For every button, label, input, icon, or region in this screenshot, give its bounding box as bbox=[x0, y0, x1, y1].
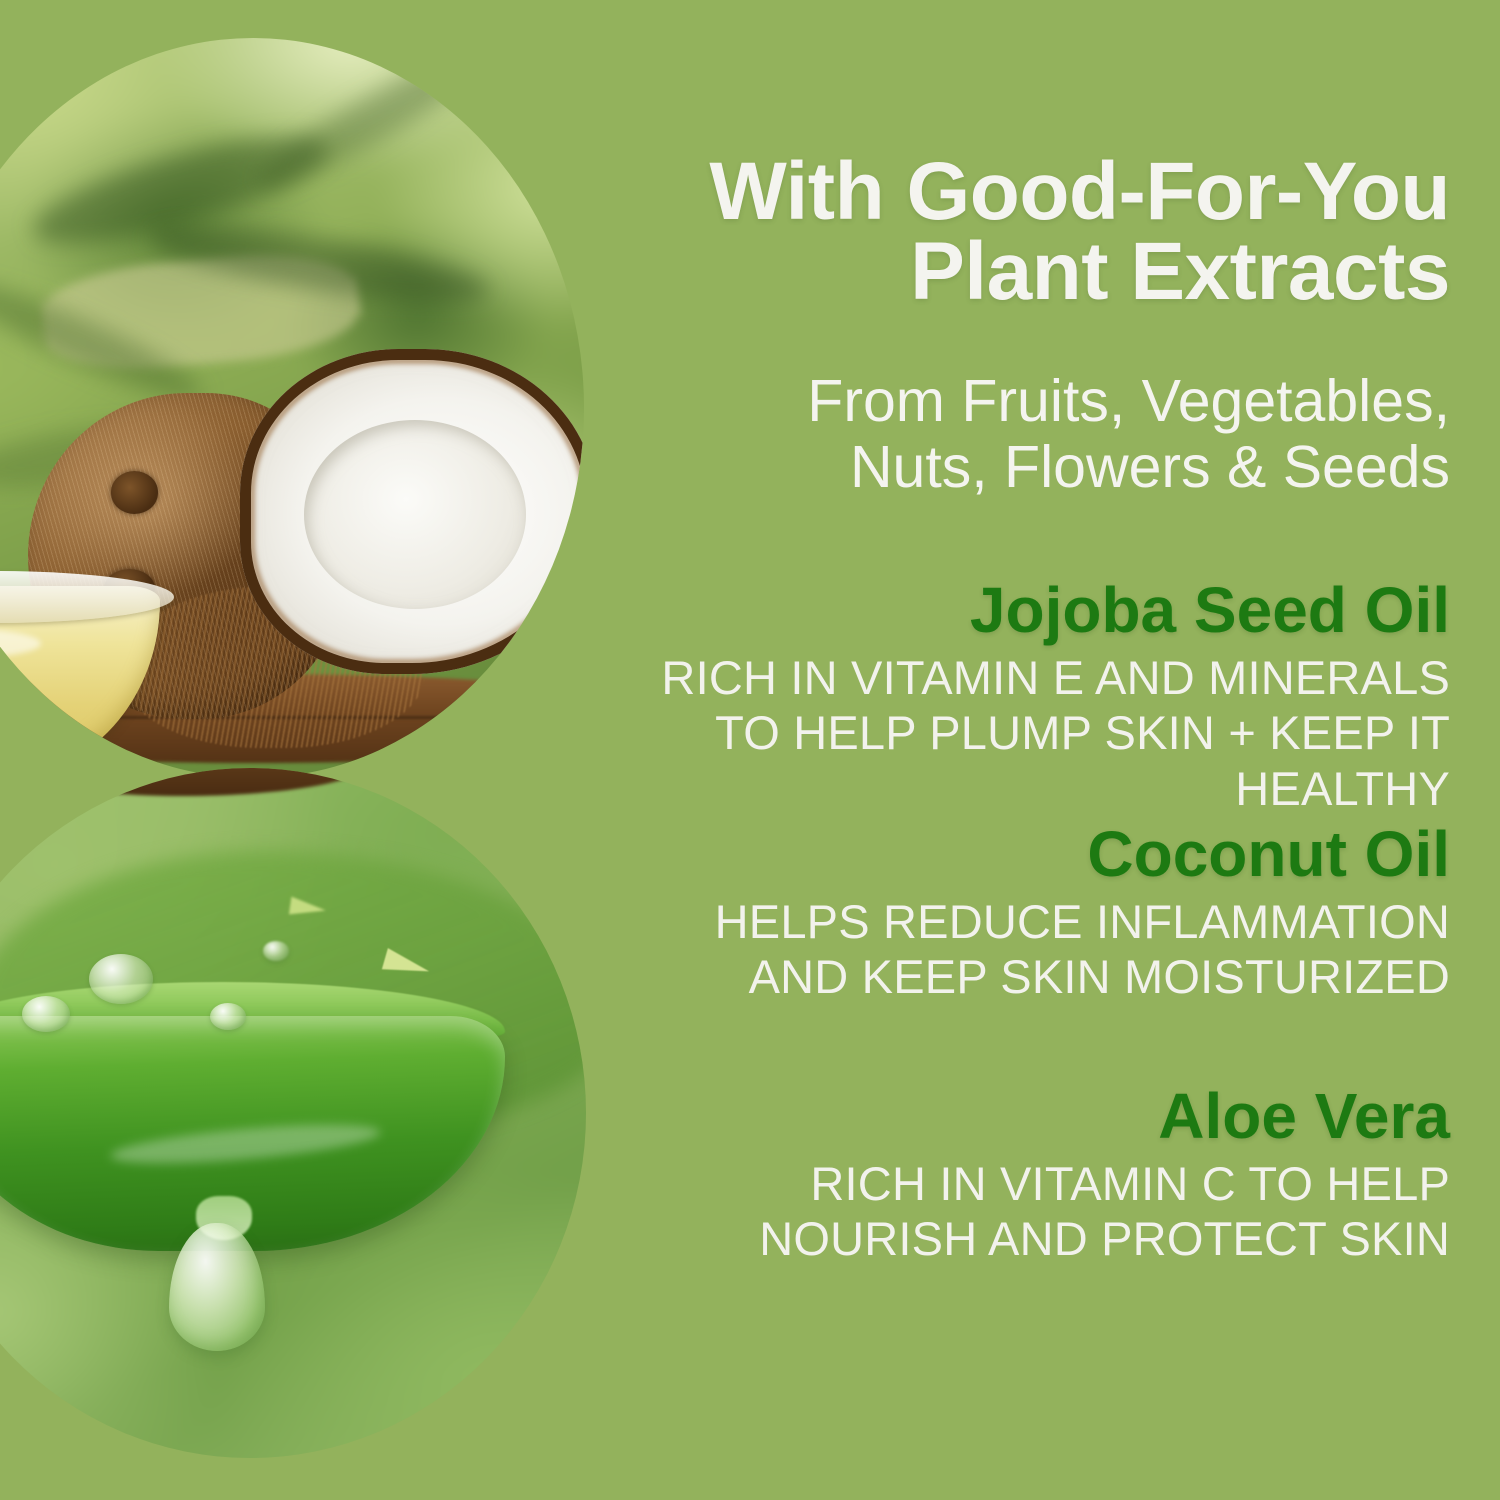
ingredient-name: Jojoba Seed Oil bbox=[600, 578, 1450, 642]
coconut-dark-rind bbox=[240, 349, 584, 675]
water-droplet bbox=[210, 1003, 246, 1030]
ingredient-benefits-infographic: With Good-For-You Plant Extracts From Fr… bbox=[0, 0, 1500, 1500]
aloe-slab-highlight bbox=[109, 1117, 382, 1171]
ingredient-description: HELPS REDUCE INFLAMMATION AND KEEP SKIN … bbox=[600, 894, 1450, 1005]
aloe-vera-photo-circle bbox=[0, 768, 586, 1458]
ingredient-description-line-2: AND KEEP SKIN MOISTURIZED bbox=[600, 949, 1450, 1004]
page-title-line-1: With Good-For-You bbox=[709, 146, 1450, 237]
coconut-white-flesh-half bbox=[240, 349, 584, 675]
page-title-line-2: Plant Extracts bbox=[910, 226, 1450, 317]
ingredient-description: RICH IN VITAMIN C TO HELP NOURISH AND PR… bbox=[600, 1156, 1450, 1267]
water-droplet bbox=[263, 941, 289, 961]
page-subtitle-line-2: Nuts, Flowers & Seeds bbox=[850, 434, 1450, 500]
ingredient-description-line-1: RICH IN VITAMIN C TO HELP bbox=[600, 1156, 1450, 1211]
water-droplet bbox=[89, 954, 153, 1004]
coconut-photo-circle bbox=[0, 38, 584, 778]
ingredient-description-line-1: HELPS REDUCE INFLAMMATION bbox=[600, 894, 1450, 949]
ingredient-block-jojoba-seed-oil: Jojoba Seed Oil RICH IN VITAMIN E AND MI… bbox=[600, 578, 1450, 816]
text-column: With Good-For-You Plant Extracts From Fr… bbox=[600, 0, 1450, 1500]
bowl-highlight bbox=[0, 628, 41, 659]
ingredient-block-aloe-vera: Aloe Vera RICH IN VITAMIN C TO HELP NOUR… bbox=[600, 1084, 1450, 1267]
page-subtitle: From Fruits, Vegetables, Nuts, Flowers &… bbox=[600, 368, 1450, 500]
ingredient-description: RICH IN VITAMIN E AND MINERALS TO HELP P… bbox=[600, 650, 1450, 816]
ingredient-name: Coconut Oil bbox=[600, 822, 1450, 886]
water-droplet bbox=[22, 996, 70, 1032]
coconut-eye bbox=[111, 471, 159, 513]
page-subtitle-line-1: From Fruits, Vegetables, bbox=[807, 368, 1450, 434]
ingredient-description-line-2: TO HELP PLUMP SKIN + KEEP IT HEALTHY bbox=[600, 705, 1450, 816]
page-title: With Good-For-You Plant Extracts bbox=[600, 152, 1450, 313]
ingredient-description-line-1: RICH IN VITAMIN E AND MINERALS bbox=[600, 650, 1450, 705]
coconut-scene bbox=[0, 38, 584, 778]
ingredient-description-line-2: NOURISH AND PROTECT SKIN bbox=[600, 1211, 1450, 1266]
ingredient-name: Aloe Vera bbox=[600, 1084, 1450, 1148]
ingredient-block-coconut-oil: Coconut Oil HELPS REDUCE INFLAMMATION AN… bbox=[600, 822, 1450, 1005]
